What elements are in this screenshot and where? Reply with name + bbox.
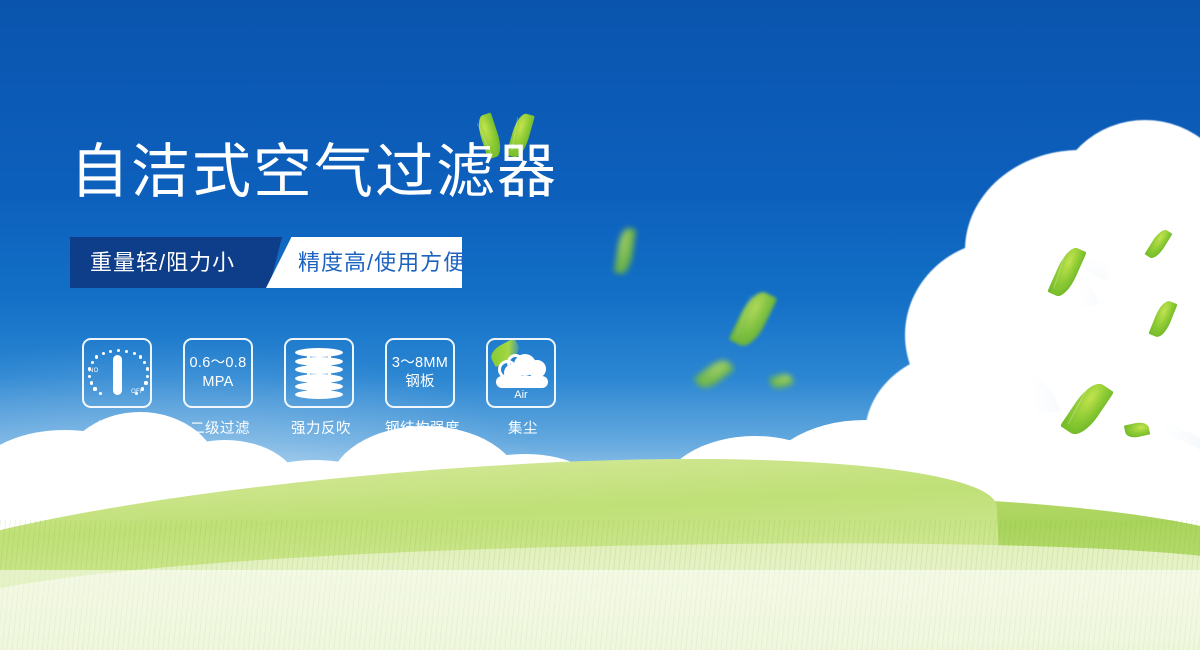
- feature-icon-box: NO OFF: [82, 338, 152, 408]
- feature-steel-strength[interactable]: 3～8MM 钢板 钢结构强度: [385, 338, 459, 438]
- feature-label: 二级过滤: [183, 417, 257, 438]
- feature-label: 强力反吹: [284, 417, 358, 438]
- pressure-value-icon: 0.6～0.8 MPA: [185, 354, 251, 392]
- filter-cartridge-icon: [295, 348, 343, 398]
- steel-line-2: 钢板: [387, 373, 453, 392]
- feature-label: 控制仪: [82, 417, 156, 438]
- feature-icon-box: 0.6～0.8 MPA: [183, 338, 253, 408]
- page-title: 自洁式空气过滤器: [70, 143, 558, 202]
- feature-label: 钢结构强度: [385, 417, 459, 438]
- feature-label: 集尘: [486, 417, 560, 438]
- feature-icon-box: Air: [486, 338, 556, 408]
- subtitle-left-text: 重量轻/阻力小: [90, 237, 235, 288]
- cloud-air-icon: Air: [488, 340, 554, 406]
- air-label: Air: [488, 389, 554, 401]
- subtitle-bar: 重量轻/阻力小 精度高/使用方便: [70, 237, 462, 288]
- gauge-no-label: NO: [89, 368, 99, 374]
- banner-stage: 自洁式空气过滤器 重量轻/阻力小 精度高/使用方便: [0, 0, 1200, 650]
- meadow-sunlight: [0, 570, 1200, 650]
- feature-icon-box: [284, 338, 354, 408]
- steel-plate-icon: 3～8MM 钢板: [387, 354, 453, 392]
- feature-two-stage-filter[interactable]: 0.6～0.8 MPA 二级过滤: [183, 338, 257, 438]
- pressure-line-2: MPA: [185, 373, 251, 392]
- feature-pulse-blowback[interactable]: 强力反吹: [284, 338, 358, 438]
- pressure-line-1: 0.6～0.8: [185, 354, 251, 373]
- feature-dust-collection[interactable]: Air 集尘: [486, 338, 560, 438]
- feature-icon-box: 3～8MM 钢板: [385, 338, 455, 408]
- gauge-icon: NO OFF: [84, 340, 150, 406]
- gauge-off-label: OFF: [131, 389, 144, 395]
- grass-field: [0, 450, 1200, 650]
- feature-controller[interactable]: NO OFF 控制仪: [82, 338, 156, 438]
- subtitle-right-text: 精度高/使用方便: [298, 237, 466, 288]
- steel-line-1: 3～8MM: [387, 354, 453, 373]
